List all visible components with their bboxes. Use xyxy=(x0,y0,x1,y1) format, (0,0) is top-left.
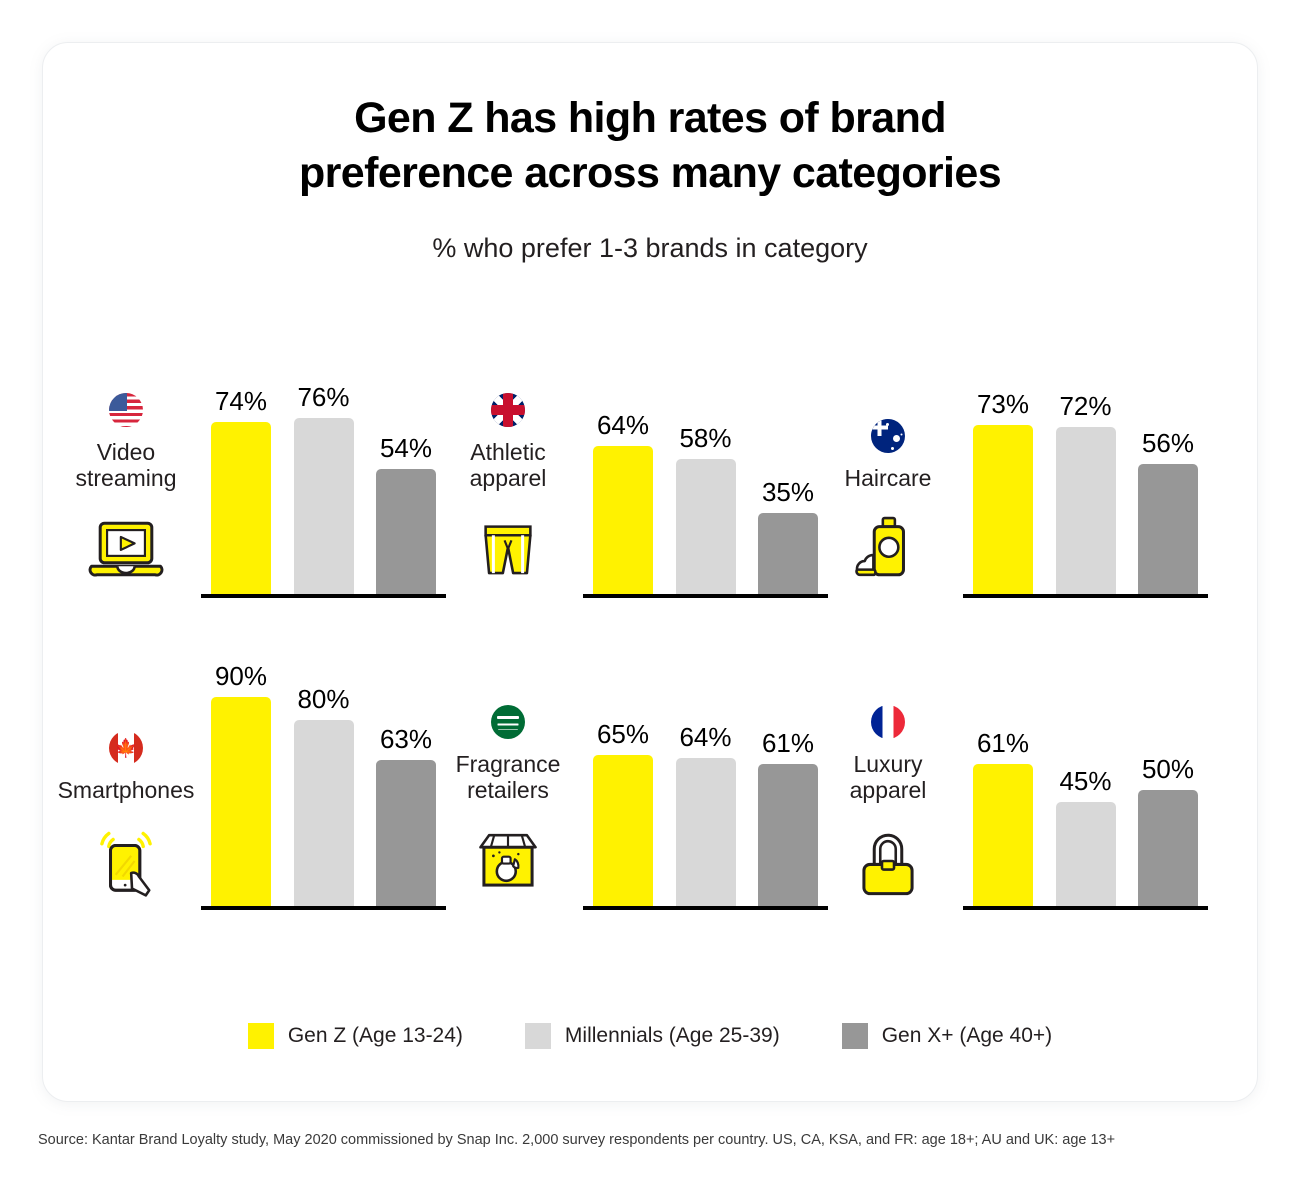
bar-column: 54% xyxy=(376,293,436,594)
category-name: Video streaming xyxy=(76,439,177,492)
category-name: Smartphones xyxy=(58,777,195,804)
bar-chart: 64%58%35% xyxy=(583,293,828,598)
bar-column: 65% xyxy=(593,605,653,906)
legend-label: Gen Z (Age 13-24) xyxy=(288,1024,463,1048)
uk-flag-icon xyxy=(491,393,525,427)
category-panel: Video streaming 74%76%54% xyxy=(61,293,446,598)
bar-value-label: 45% xyxy=(1059,766,1111,797)
category-panel: Smartphones 90%80%63% xyxy=(61,605,446,910)
legend-label: Millennials (Age 25-39) xyxy=(565,1024,780,1048)
legend-item-genx[interactable]: Gen X+ (Age 40+) xyxy=(842,1023,1052,1049)
bar-value-label: 35% xyxy=(762,477,814,508)
category-label-group: Haircare xyxy=(823,293,953,598)
bar-column: 72% xyxy=(1056,293,1116,594)
bar-genz xyxy=(593,755,653,906)
bar-column: 90% xyxy=(211,605,271,906)
category-panel: Fragrance retailers 65%64%61% xyxy=(443,605,828,910)
legend-item-genz[interactable]: Gen Z (Age 13-24) xyxy=(248,1023,463,1049)
bar-genx xyxy=(1138,790,1198,906)
bar-value-label: 72% xyxy=(1059,391,1111,422)
chart-baseline xyxy=(201,906,446,910)
bar-genx xyxy=(376,760,436,906)
bar-column: 45% xyxy=(1056,605,1116,906)
category-name: Haircare xyxy=(845,465,932,492)
category-panel: Athletic apparel 64%58%35% xyxy=(443,293,828,598)
bar-genz xyxy=(973,425,1033,594)
category-label-group: Video streaming xyxy=(61,293,191,598)
bar-value-label: 90% xyxy=(215,661,267,692)
source-footnote: Source: Kantar Brand Loyalty study, May … xyxy=(38,1132,1115,1148)
chart-baseline xyxy=(963,906,1208,910)
bar-value-label: 65% xyxy=(597,719,649,750)
page-title: Gen Z has high rates of brand preference… xyxy=(43,91,1257,201)
bar-value-label: 73% xyxy=(977,389,1029,420)
page-title-line-1: Gen Z has high rates of brand xyxy=(43,91,1257,146)
bar-column: 64% xyxy=(676,605,736,906)
bar-column: 61% xyxy=(758,605,818,906)
bar-chart: 90%80%63% xyxy=(201,605,446,910)
bar-mill xyxy=(294,720,354,906)
bar-column: 63% xyxy=(376,605,436,906)
laptop-video-icon xyxy=(83,506,169,592)
category-name: Athletic apparel xyxy=(470,439,547,492)
bar-group: 90%80%63% xyxy=(211,605,436,906)
category-label-group: Smartphones xyxy=(61,605,191,910)
chart-baseline xyxy=(963,594,1208,598)
bar-column: 80% xyxy=(294,605,354,906)
bar-mill xyxy=(1056,802,1116,906)
bar-chart: 65%64%61% xyxy=(583,605,828,910)
category-label-group: Luxury apparel xyxy=(823,605,953,910)
category-panel: Haircare 73%72%56% xyxy=(823,293,1208,598)
bar-group: 64%58%35% xyxy=(593,293,818,594)
bar-column: 58% xyxy=(676,293,736,594)
handbag-icon xyxy=(845,818,931,904)
bar-column: 64% xyxy=(593,293,653,594)
bar-genx xyxy=(758,513,818,594)
flag-stripe xyxy=(134,731,143,765)
hand-phone-icon xyxy=(83,818,169,904)
category-name: Luxury apparel xyxy=(850,751,927,804)
bar-chart: 74%76%54% xyxy=(201,293,446,598)
category-label-group: Fragrance retailers xyxy=(443,605,573,910)
bar-value-label: 64% xyxy=(679,722,731,753)
sa-flag-icon xyxy=(491,705,525,739)
bar-group: 61%45%50% xyxy=(973,605,1198,906)
legend-swatch xyxy=(842,1023,868,1049)
legend-swatch xyxy=(248,1023,274,1049)
fr-flag-icon xyxy=(871,705,905,739)
bar-column: 74% xyxy=(211,293,271,594)
infographic-root: Gen Z has high rates of brand preference… xyxy=(0,0,1300,1194)
bar-genx xyxy=(1138,464,1198,594)
category-label-group: Athletic apparel xyxy=(443,293,573,598)
bar-genz xyxy=(211,422,271,594)
chart-baseline xyxy=(583,594,828,598)
shorts-icon xyxy=(465,506,551,592)
page-subtitle: % who prefer 1-3 brands in category xyxy=(43,233,1257,264)
chart-baseline xyxy=(583,906,828,910)
bar-group: 74%76%54% xyxy=(211,293,436,594)
chart-card: Gen Z has high rates of brand preference… xyxy=(42,42,1258,1102)
bar-chart: 61%45%50% xyxy=(963,605,1208,910)
bar-value-label: 61% xyxy=(762,728,814,759)
category-panel: Luxury apparel 61%45%50% xyxy=(823,605,1208,910)
bar-chart: 73%72%56% xyxy=(963,293,1208,598)
bar-mill xyxy=(1056,427,1116,594)
bar-value-label: 58% xyxy=(679,423,731,454)
bar-genz xyxy=(211,697,271,906)
bar-column: 73% xyxy=(973,293,1033,594)
bar-column: 61% xyxy=(973,605,1033,906)
bar-column: 50% xyxy=(1138,605,1198,906)
bar-value-label: 56% xyxy=(1142,428,1194,459)
us-flag-icon xyxy=(109,393,143,427)
bar-column: 35% xyxy=(758,293,818,594)
bar-group: 65%64%61% xyxy=(593,605,818,906)
bar-value-label: 74% xyxy=(215,386,267,417)
bar-column: 56% xyxy=(1138,293,1198,594)
bar-value-label: 76% xyxy=(297,382,349,413)
au-flag-icon xyxy=(871,419,905,453)
bar-value-label: 64% xyxy=(597,410,649,441)
category-name: Fragrance retailers xyxy=(456,751,561,804)
legend-item-mill[interactable]: Millennials (Age 25-39) xyxy=(525,1023,780,1049)
chart-legend: Gen Z (Age 13-24)Millennials (Age 25-39)… xyxy=(43,1023,1257,1049)
storefront-perfume-icon xyxy=(465,818,551,904)
legend-label: Gen X+ (Age 40+) xyxy=(882,1024,1052,1048)
bar-genx xyxy=(758,764,818,906)
bar-mill xyxy=(676,459,736,594)
bar-mill xyxy=(676,758,736,906)
page-title-line-2: preference across many categories xyxy=(43,146,1257,201)
bar-mill xyxy=(294,418,354,594)
bar-value-label: 63% xyxy=(380,724,432,755)
bar-group: 73%72%56% xyxy=(973,293,1198,594)
bar-value-label: 61% xyxy=(977,728,1029,759)
shampoo-bottle-icon xyxy=(845,506,931,592)
bar-genz xyxy=(973,764,1033,906)
bar-genz xyxy=(593,446,653,594)
bar-value-label: 54% xyxy=(380,433,432,464)
bar-genx xyxy=(376,469,436,594)
bar-value-label: 50% xyxy=(1142,754,1194,785)
ca-flag-icon xyxy=(109,731,143,765)
chart-baseline xyxy=(201,594,446,598)
bar-column: 76% xyxy=(294,293,354,594)
legend-swatch xyxy=(525,1023,551,1049)
bar-value-label: 80% xyxy=(297,684,349,715)
